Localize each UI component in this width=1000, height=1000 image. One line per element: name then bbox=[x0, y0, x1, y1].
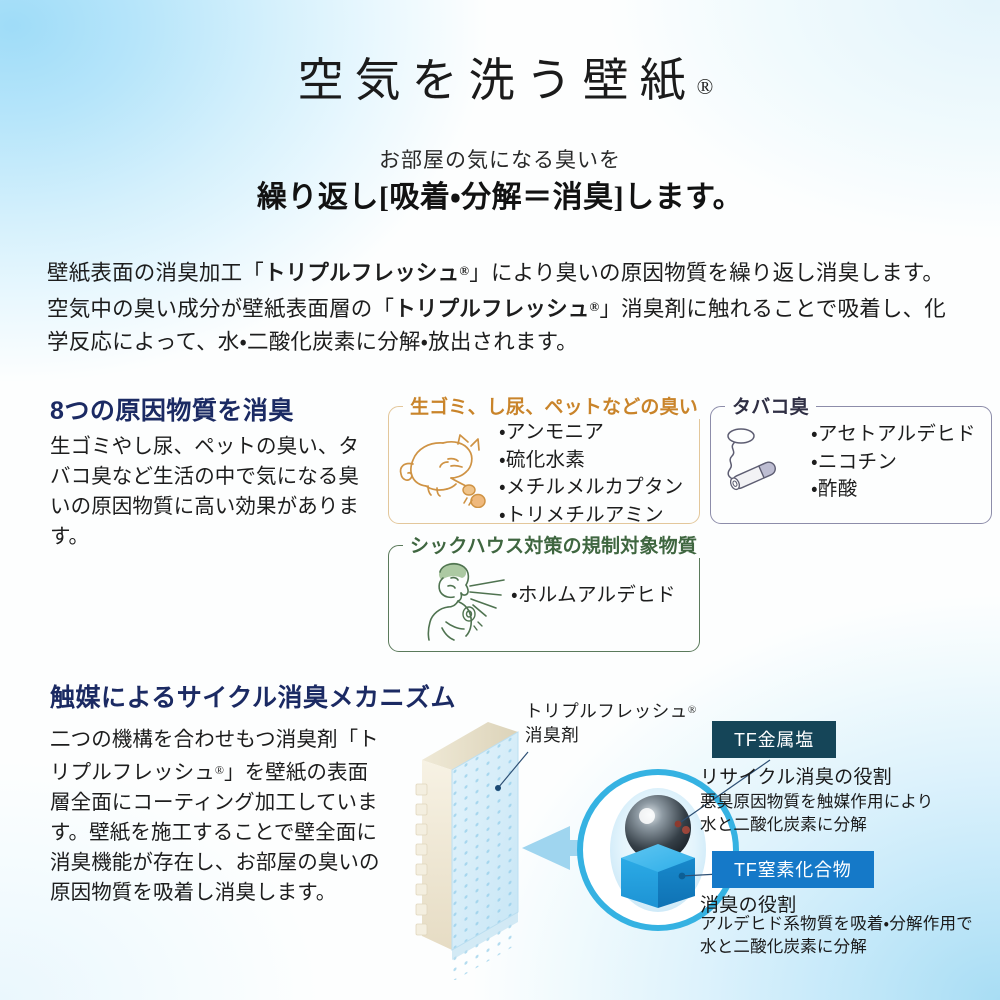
callout-tf-metal-salt-desc: 悪臭原因物質を触媒作用により 水と二酸化炭素に分解 bbox=[700, 790, 1000, 836]
cigarette-icon bbox=[718, 426, 796, 498]
list-item: ・メチルメルカプタン bbox=[499, 474, 684, 502]
registered-mark-icon: ® bbox=[215, 763, 224, 777]
page-title: 空気を洗う壁紙® bbox=[0, 44, 1000, 110]
lead-seg-1: 壁紙表面の消臭加工「 bbox=[47, 261, 264, 285]
badge-tf-metal-salt: TF金属塩 bbox=[712, 721, 836, 758]
list-item: ・ホルムアルデヒド bbox=[511, 582, 676, 610]
infographic-page: 空気を洗う壁紙® お部屋の気になる臭いを 繰り返し[吸着・分解＝消臭]します。 … bbox=[0, 0, 1000, 1000]
list-item: ・アンモニア bbox=[499, 419, 684, 447]
section-1-heading: 8つの原因物質を消臭 bbox=[50, 391, 294, 427]
odor-box-sick-house-legend: シックハウス対策の規制対象物質 bbox=[403, 531, 704, 558]
callout-tf-metal-salt-title: リサイクル消臭の役割 bbox=[700, 762, 892, 789]
odor-box-tobacco-legend: タバコ臭 bbox=[725, 392, 816, 419]
lead-brand-1: トリプルフレッシュ bbox=[264, 261, 459, 285]
coating-label-line-2: 消臭剤 bbox=[525, 725, 579, 745]
subtitle-lead: お部屋の気になる臭いを bbox=[0, 144, 1000, 174]
odor-box-tobacco-items: ・アセトアルデヒド ・ニコチン ・酢酸 bbox=[811, 421, 976, 504]
page-title-text: 空気を洗う壁紙 bbox=[298, 55, 697, 106]
badge-tf-nitrogen-compound: TF窒素化合物 bbox=[712, 851, 874, 888]
list-item: ・ニコチン bbox=[811, 449, 976, 477]
list-item: ・酢酸 bbox=[811, 476, 976, 504]
registered-mark-icon: ® bbox=[590, 299, 600, 314]
coating-label-line-1: トリプルフレッシュ bbox=[525, 701, 688, 721]
callout-tf-nitrogen-compound-desc: アルデヒド系物質を吸着・分解作用で 水と二酸化炭素に分解 bbox=[700, 912, 1000, 958]
list-item: ・硫化水素 bbox=[499, 447, 684, 475]
list-item: ・アセトアルデヒド bbox=[811, 421, 976, 449]
odor-box-sick-house-items: ・ホルムアルデヒド bbox=[511, 582, 676, 610]
list-item: ・トリメチルアミン bbox=[499, 502, 684, 530]
lead-brand-2: トリプルフレッシュ bbox=[394, 297, 589, 321]
section-1-body: 生ゴミやし尿、ペットの臭い、タバコ臭など生活の中で気になる臭いの原因物質に高い効… bbox=[50, 432, 362, 552]
section-2-body: 二つの機構を合わせもつ消臭剤「トリプルフレッシュ®」を壁紙の表面層全面にコーティ… bbox=[50, 725, 380, 908]
coating-label: トリプルフレッシュ®消臭剤 bbox=[525, 698, 725, 747]
registered-mark-icon: ® bbox=[697, 74, 714, 99]
registered-mark-icon: ® bbox=[688, 704, 697, 716]
lead-paragraph: 壁紙表面の消臭加工「トリプルフレッシュ®」により臭いの原因物質を繰り返し消臭しま… bbox=[47, 254, 955, 359]
cat-icon bbox=[396, 424, 500, 508]
coughing-person-icon bbox=[418, 556, 514, 642]
subtitle-strong: 繰り返し[吸着・分解＝消臭]します。 bbox=[0, 172, 1000, 216]
registered-mark-icon: ® bbox=[459, 263, 469, 278]
odor-box-waste-items: ・アンモニア ・硫化水素 ・メチルメルカプタン ・トリメチルアミン bbox=[499, 419, 684, 529]
section-2-heading: 触媒によるサイクル消臭メカニズム bbox=[50, 678, 456, 714]
odor-box-waste-legend: 生ゴミ、し尿、ペットなどの臭い bbox=[403, 392, 705, 419]
